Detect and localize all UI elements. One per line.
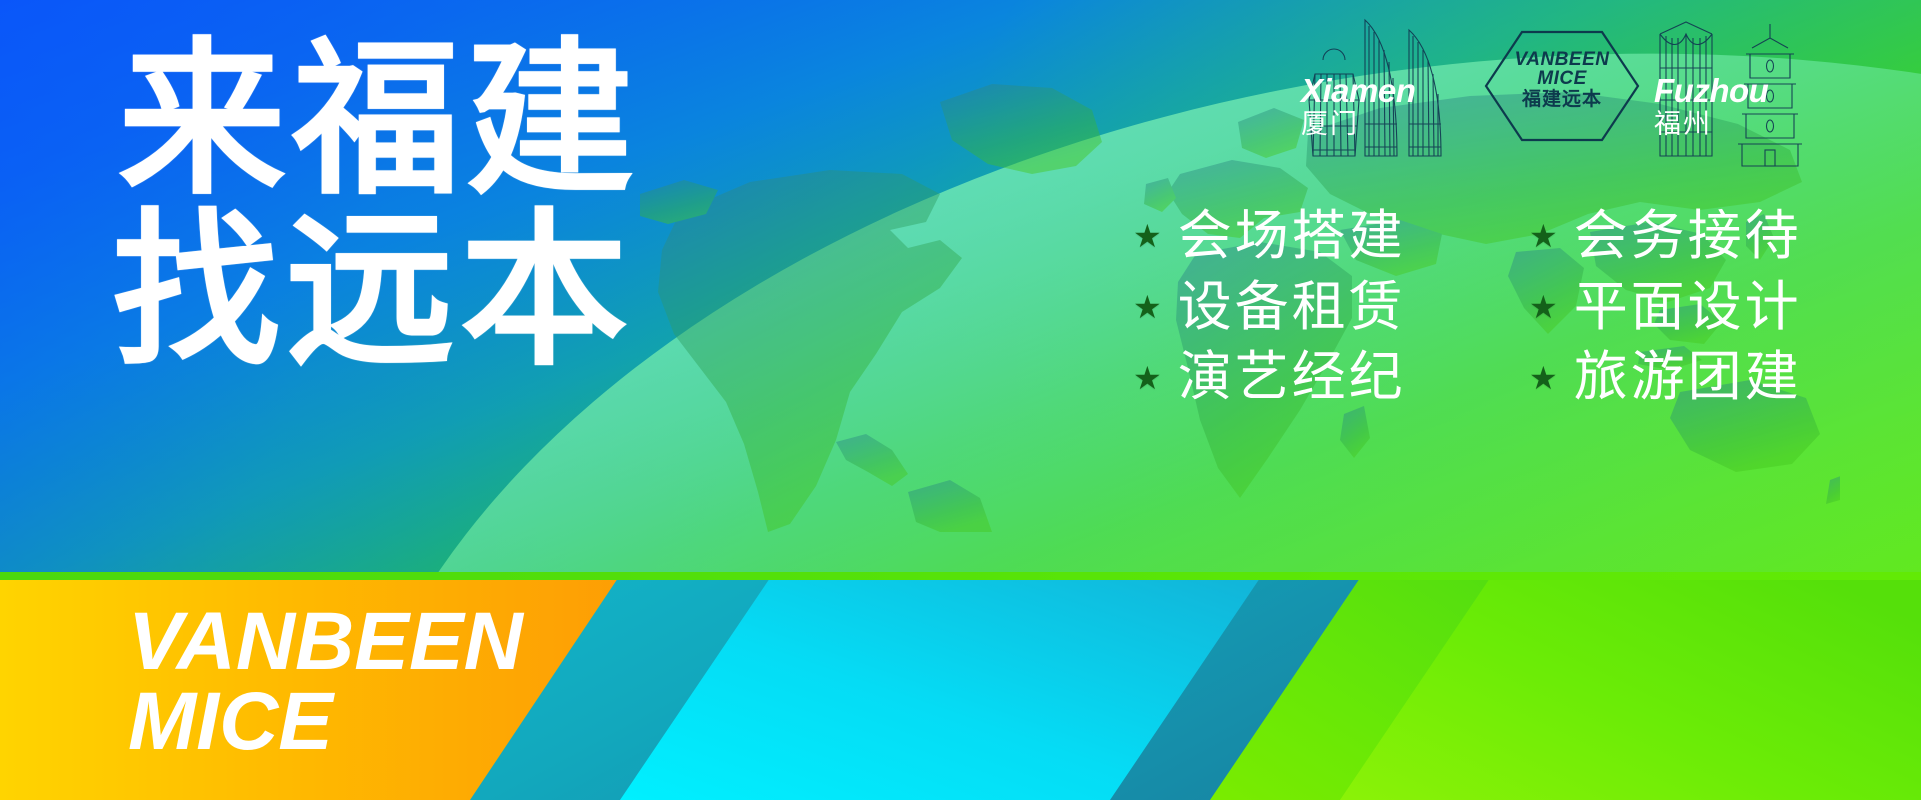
page-title: 来福建 找远本 (118, 38, 640, 373)
promotional-banner: 来福建 找远本 ★ 会场搭建 ★ 会务接待 ★ 设备租赁 (0, 0, 1921, 800)
brand-footer-bar: VANBEEN MICE (0, 578, 1921, 800)
city-name-en: Fuzhou (1654, 74, 1834, 107)
city-name-cn: 厦门 (1301, 110, 1481, 140)
hexagon-logo-text: VANBEEN MICE 福建远本 (1482, 50, 1642, 111)
vanbeen-hexagon-logo[interactable]: VANBEEN MICE 福建远本 (1482, 26, 1642, 146)
services-row: ★ 演艺经纪 ★ 旅游团建 (1133, 349, 1877, 406)
star-icon: ★ (1133, 220, 1162, 252)
service-label: 平面设计 (1574, 279, 1802, 336)
star-icon: ★ (1133, 291, 1162, 323)
brand-line-2: MICE (128, 682, 523, 762)
city-label-group: Fuzhou 福州 (1654, 74, 1834, 140)
brand-line-1: VANBEEN (128, 602, 523, 682)
hero-section: 来福建 找远本 ★ 会场搭建 ★ 会务接待 ★ 设备租赁 (0, 0, 1921, 578)
section-divider (0, 572, 1921, 580)
brand-wordmark: VANBEEN MICE (128, 602, 523, 761)
hexlogo-en-line1: VANBEEN (1482, 50, 1642, 69)
star-icon: ★ (1133, 362, 1162, 394)
city-label-group: Xiamen 厦门 (1301, 74, 1481, 140)
hexlogo-cn: 福建远本 (1482, 89, 1642, 111)
service-label: 旅游团建 (1574, 349, 1802, 406)
star-icon: ★ (1529, 362, 1558, 394)
service-item[interactable]: ★ 平面设计 (1529, 279, 1877, 336)
city-name-cn: 福州 (1654, 110, 1834, 140)
services-list: ★ 会场搭建 ★ 会务接待 ★ 设备租赁 ★ 平面设计 (1133, 208, 1877, 406)
city-badge-xiamen[interactable]: Xiamen 厦门 (1293, 4, 1478, 174)
service-item[interactable]: ★ 设备租赁 (1133, 279, 1481, 336)
service-item[interactable]: ★ 演艺经纪 (1133, 349, 1481, 406)
service-item[interactable]: ★ 会场搭建 (1133, 208, 1481, 265)
services-row: ★ 会场搭建 ★ 会务接待 (1133, 208, 1877, 265)
star-icon: ★ (1529, 291, 1558, 323)
star-icon: ★ (1529, 220, 1558, 252)
headline-line-2: 找远本 (112, 209, 640, 374)
city-name-en: Xiamen (1301, 74, 1481, 107)
service-item[interactable]: ★ 旅游团建 (1529, 349, 1877, 406)
service-item[interactable]: ★ 会务接待 (1529, 208, 1877, 265)
city-badges: Xiamen 厦门 VANBEEN MICE 福建远本 (1293, 4, 1831, 174)
hexlogo-en-line2: MICE (1482, 69, 1642, 89)
service-label: 会场搭建 (1178, 208, 1406, 265)
service-label: 演艺经纪 (1178, 349, 1406, 406)
headline-line-1: 来福建 (118, 38, 640, 203)
service-label: 会务接待 (1574, 208, 1802, 265)
service-label: 设备租赁 (1178, 279, 1406, 336)
services-row: ★ 设备租赁 ★ 平面设计 (1133, 279, 1877, 336)
city-badge-fuzhou[interactable]: Fuzhou 福州 (1646, 4, 1831, 174)
